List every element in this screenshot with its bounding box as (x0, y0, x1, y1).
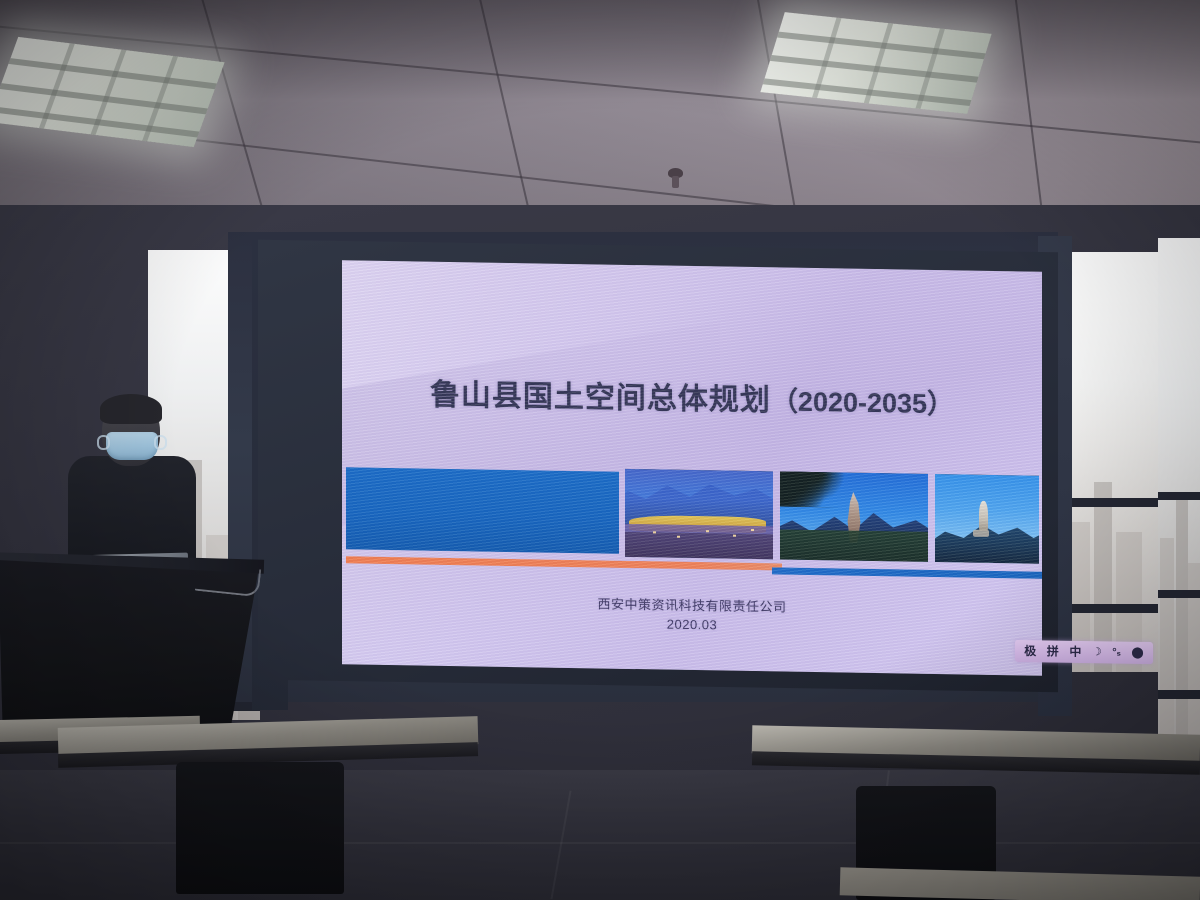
photo-buddha-statue (935, 474, 1039, 564)
menu-icon[interactable]: ⬤ (1131, 647, 1143, 658)
ime-logo-icon[interactable]: 极 (1024, 645, 1036, 657)
window-right-inner (1062, 252, 1158, 672)
slide-title-main: 鲁山县国土空间总体规划 (430, 379, 771, 418)
presentation-slide: 鲁山县国土空间总体规划（2020-2035） (342, 260, 1042, 676)
slide-title-years: （2020-2035） (771, 386, 954, 419)
room-photo-scene: 鲁山县国土空间总体规划（2020-2035） (0, 0, 1200, 900)
moon-icon[interactable]: ☽ (1092, 647, 1102, 658)
ime-language-toggle[interactable]: 中 (1069, 646, 1081, 658)
ime-toolbar[interactable]: 极 拼 中 ☽ °ₛ ⬤ (1015, 640, 1153, 664)
presenter-hair (100, 394, 162, 424)
sprinkler-head-icon (668, 168, 683, 178)
slide-photo-strip (625, 469, 1039, 564)
gear-icon[interactable]: °ₛ (1112, 647, 1121, 658)
slide-blue-block (346, 467, 619, 554)
photo-rock-pinnacle (780, 471, 928, 561)
ime-pinyin-button[interactable]: 拼 (1047, 645, 1059, 657)
window-right (1158, 238, 1200, 738)
face-mask-icon (106, 432, 158, 460)
photo-village-mountains (625, 469, 773, 559)
chair-center (176, 762, 344, 894)
